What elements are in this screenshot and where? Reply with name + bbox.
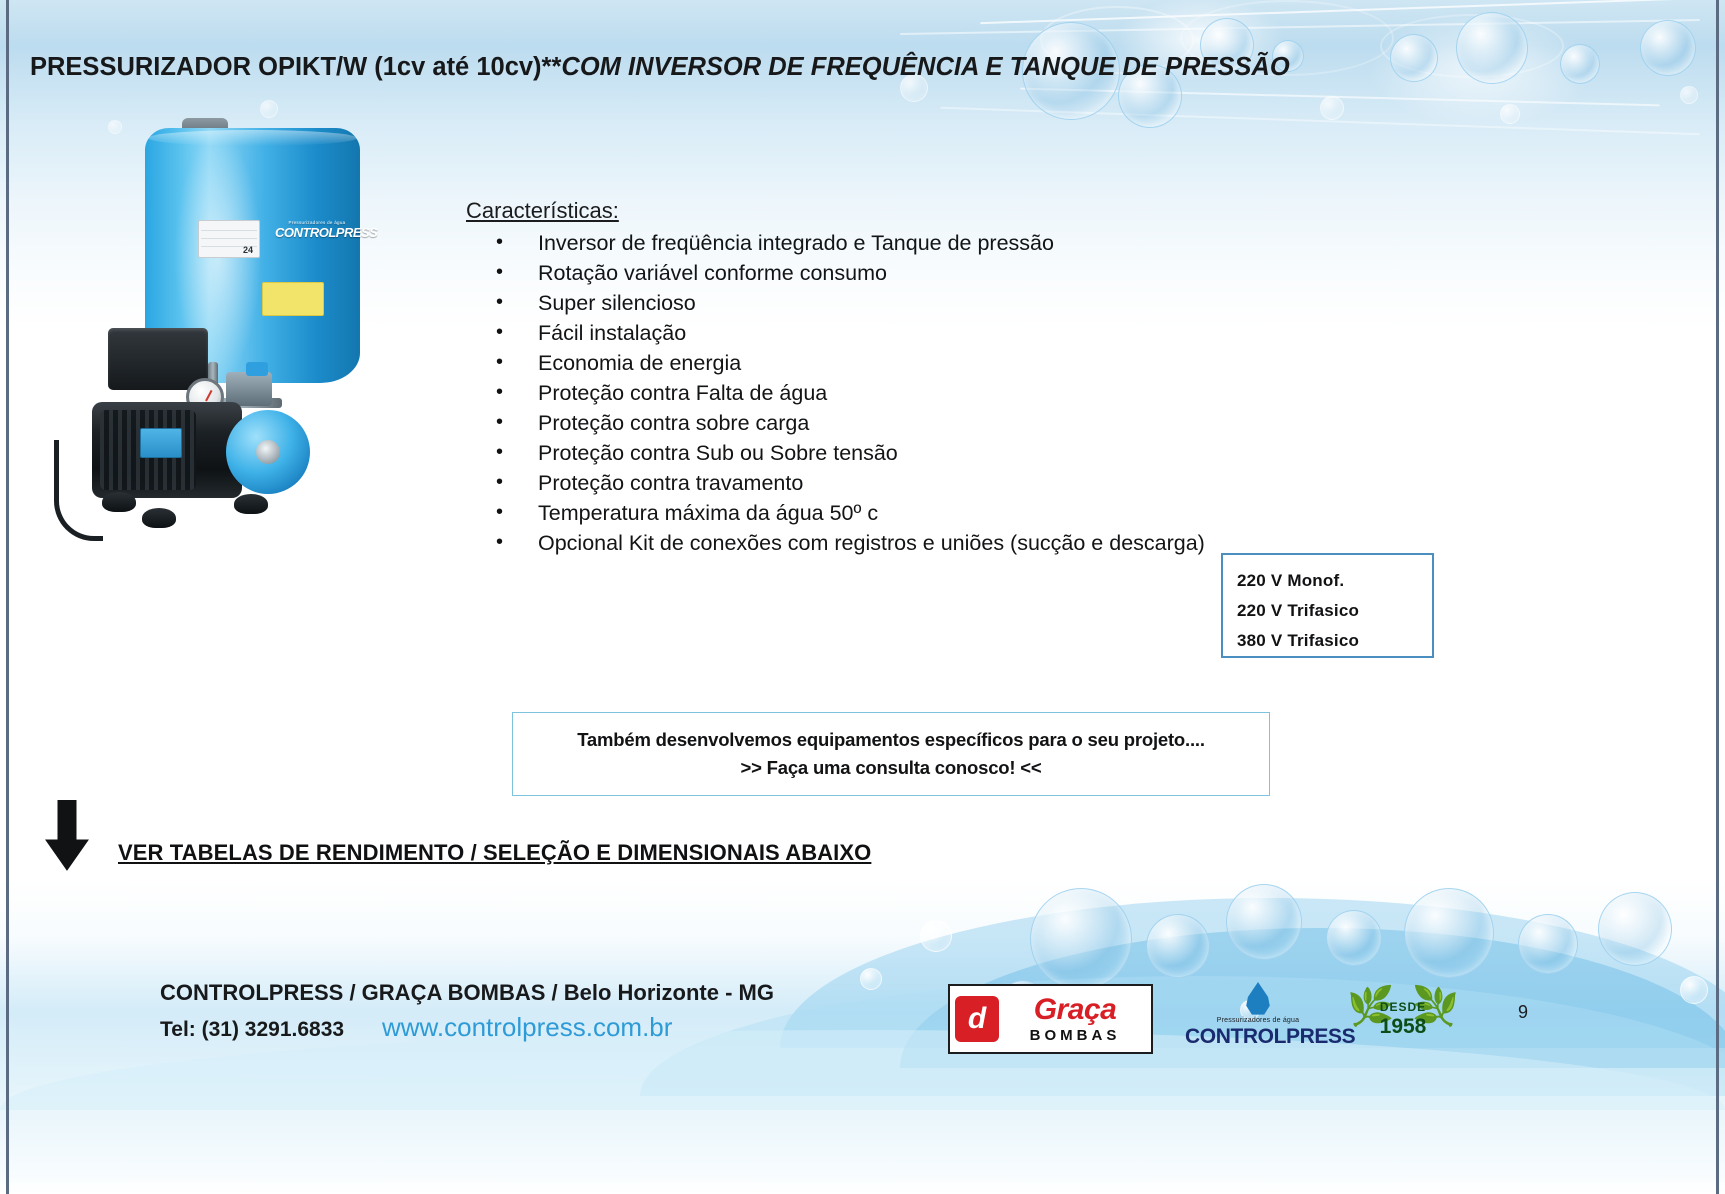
machine-foot — [102, 492, 136, 512]
custom-projects-message-box: Também desenvolvemos equipamentos especí… — [512, 712, 1270, 796]
feature-item: Proteção contra sobre carga — [466, 408, 1246, 438]
message-line-1: Também desenvolvemos equipamentos especí… — [577, 729, 1205, 751]
message-line-2: >> Faça uma consulta conosco! << — [740, 757, 1041, 779]
bubble — [1320, 96, 1344, 120]
see-tables-heading: VER TABELAS DE RENDIMENTO / SELEÇÃO E DI… — [118, 840, 871, 866]
graca-logo-text: Graça BOMBAS — [999, 995, 1151, 1043]
voltage-option: 380 V Trifasico — [1237, 626, 1432, 656]
feature-item: Proteção contra Falta de água — [466, 378, 1246, 408]
bubble — [1560, 44, 1600, 84]
controlpress-tagline: Pressurizadores de água — [1185, 1017, 1331, 1024]
feature-item: Economia de energia — [466, 348, 1246, 378]
bubble — [1640, 20, 1696, 76]
features-list: Inversor de freqüência integrado e Tanqu… — [466, 228, 1246, 558]
bubble — [1598, 892, 1672, 966]
tank-spec-label: 24 — [198, 220, 260, 258]
feature-item: Fácil instalação — [466, 318, 1246, 348]
valve-knob — [246, 362, 268, 376]
graca-bombas-logo: d Graça BOMBAS — [948, 984, 1153, 1054]
footer-website[interactable]: www.controlpress.com.br — [382, 1012, 672, 1043]
feature-item: Proteção contra Sub ou Sobre tensão — [466, 438, 1246, 468]
bubble — [860, 968, 882, 990]
desde-label: DESDE — [1345, 1000, 1461, 1014]
desde-year: 1958 — [1345, 1015, 1461, 1039]
bubble — [1146, 914, 1210, 978]
tank-capacity-value: 24 — [201, 247, 257, 253]
controlpress-name: CONTROLPRESS — [1185, 1025, 1331, 1049]
graca-logo-name: Graça — [999, 995, 1151, 1025]
machine-foot — [234, 494, 268, 514]
motor-nameplate — [140, 428, 182, 458]
voltage-option: 220 V Monof. — [1237, 566, 1432, 596]
graca-logo-subtitle: BOMBAS — [999, 1028, 1151, 1043]
bubble — [1680, 86, 1698, 104]
feature-item: Opcional Kit de conexões com registros e… — [466, 528, 1246, 558]
footer-company-line: CONTROLPRESS / GRAÇA BOMBAS / Belo Horiz… — [160, 980, 774, 1006]
feature-item: Temperatura máxima da água 50º c — [466, 498, 1246, 528]
bubble — [1680, 976, 1708, 1004]
bubble — [1030, 888, 1132, 990]
bubble — [1500, 104, 1520, 124]
tank-highlight-ring — [148, 130, 357, 146]
pump-hub — [256, 440, 280, 464]
feature-item: Rotação variável conforme consumo — [466, 258, 1246, 288]
voltage-option: 220 V Trifasico — [1237, 596, 1432, 626]
controlpress-logo: Pressurizadores de água CONTROLPRESS — [1185, 982, 1331, 1054]
page-title: PRESSURIZADOR OPIKT/W (1cv até 10cv)**CO… — [30, 52, 1410, 82]
catalog-page: PRESSURIZADOR OPIKT/W (1cv até 10cv)**CO… — [0, 0, 1725, 1194]
footer-phone: Tel: (31) 3291.6833 — [160, 1018, 344, 1042]
bubble — [920, 920, 952, 952]
water-drop-icon — [1244, 982, 1272, 1016]
page-title-part2: COM INVERSOR DE FREQUÊNCIA E TANQUE DE P… — [561, 53, 1289, 81]
machine-foot — [142, 508, 176, 528]
page-frame-right — [1716, 0, 1719, 1194]
valve-body — [226, 372, 272, 406]
graca-mark-icon: d — [955, 996, 999, 1042]
features-heading-text: Características: — [466, 198, 619, 223]
feature-item: Inversor de freqüência integrado e Tanqu… — [466, 228, 1246, 258]
page-number: 9 — [1518, 1002, 1528, 1023]
bubble — [1226, 884, 1302, 960]
product-photo: 24 Pressurizadores de água CONTROLPRESS — [30, 110, 430, 565]
warning-sticker — [262, 282, 324, 316]
bubble — [1518, 914, 1578, 974]
tank-brand-name: CONTROLPRESS — [275, 228, 359, 238]
feature-item: Super silencioso — [466, 288, 1246, 318]
bubble — [1326, 910, 1382, 966]
desde-seal: 🌿 🌿 DESDE 1958 — [1345, 982, 1461, 1054]
down-arrow-icon — [44, 800, 90, 872]
page-frame-left — [6, 0, 9, 1194]
page-title-part1: PRESSURIZADOR OPIKT/W (1cv até 10cv)** — [30, 53, 561, 81]
feature-item: Proteção contra travamento — [466, 468, 1246, 498]
bubble — [1456, 12, 1528, 84]
voltage-options-box: 220 V Monof. 220 V Trifasico 380 V Trifa… — [1221, 553, 1434, 658]
features-heading: Características: — [466, 198, 619, 224]
bubble — [1404, 888, 1494, 978]
tank-brand-mark: Pressurizadores de água CONTROLPRESS — [275, 218, 359, 252]
